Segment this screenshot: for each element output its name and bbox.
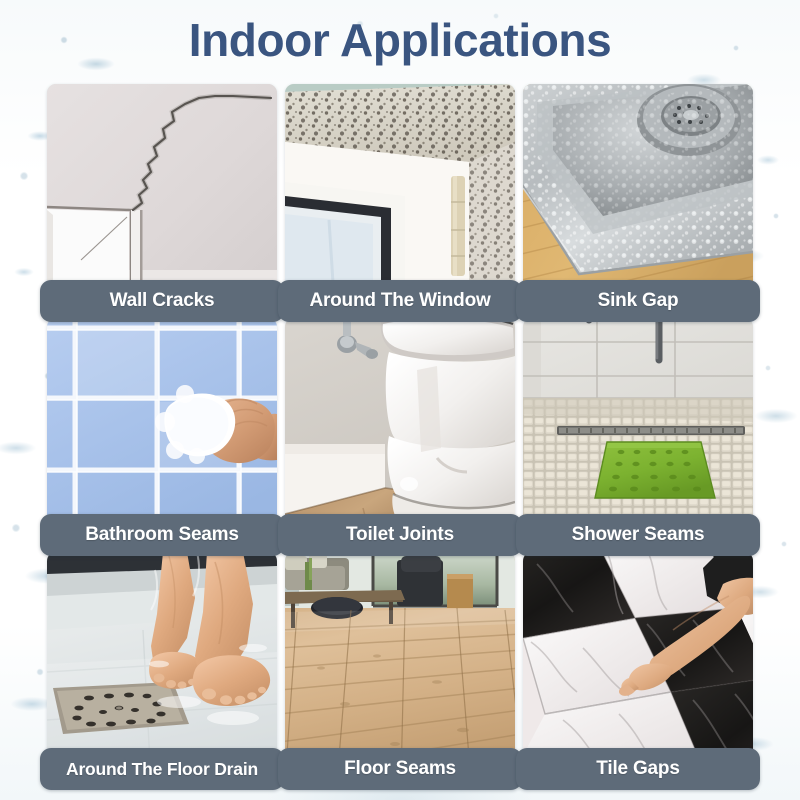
tile-label-bar: Around The Window [278,280,522,322]
tile-label-bar: Toilet Joints [278,514,522,556]
infographic-page: Indoor Applications [0,0,800,800]
tile-label: Sink Gap [598,290,679,312]
tile-label-bar: Tile Gaps [516,748,760,790]
application-tile-toilet-joints[interactable]: Toilet Joints [285,318,515,548]
tile-label: Bathroom Seams [85,524,238,546]
page-title: Indoor Applications [189,13,612,67]
tile-label: Shower Seams [572,524,705,546]
tile-label: Around The Floor Drain [66,759,258,780]
tile-label: Floor Seams [344,758,456,780]
application-tile-bathroom-seams[interactable]: Bathroom Seams [47,318,277,548]
application-tile-wall-cracks[interactable]: Wall Cracks [47,84,277,314]
tile-label-bar: Around The Floor Drain [40,748,284,790]
tile-label-bar: Sink Gap [516,280,760,322]
tile-label: Wall Cracks [110,290,215,312]
application-tile-sink-gap[interactable]: Sink Gap [523,84,753,314]
application-tile-shower-seams[interactable]: Shower Seams [523,318,753,548]
application-tile-tile-gaps[interactable]: Tile Gaps [523,552,753,782]
tile-label-bar: Wall Cracks [40,280,284,322]
tile-label-bar: Bathroom Seams [40,514,284,556]
header: Indoor Applications [0,0,800,80]
tile-label-bar: Shower Seams [516,514,760,556]
application-tile-around-the-floor-drain[interactable]: Around The Floor Drain [47,552,277,782]
application-tile-around-the-window[interactable]: Around The Window [285,84,515,314]
tile-label: Around The Window [309,290,490,312]
application-tile-floor-seams[interactable]: Floor Seams [285,552,515,782]
tile-label-bar: Floor Seams [278,748,522,790]
tile-label: Tile Gaps [596,758,679,780]
applications-grid: Wall Cracks [47,84,753,782]
tile-label: Toilet Joints [346,524,454,546]
